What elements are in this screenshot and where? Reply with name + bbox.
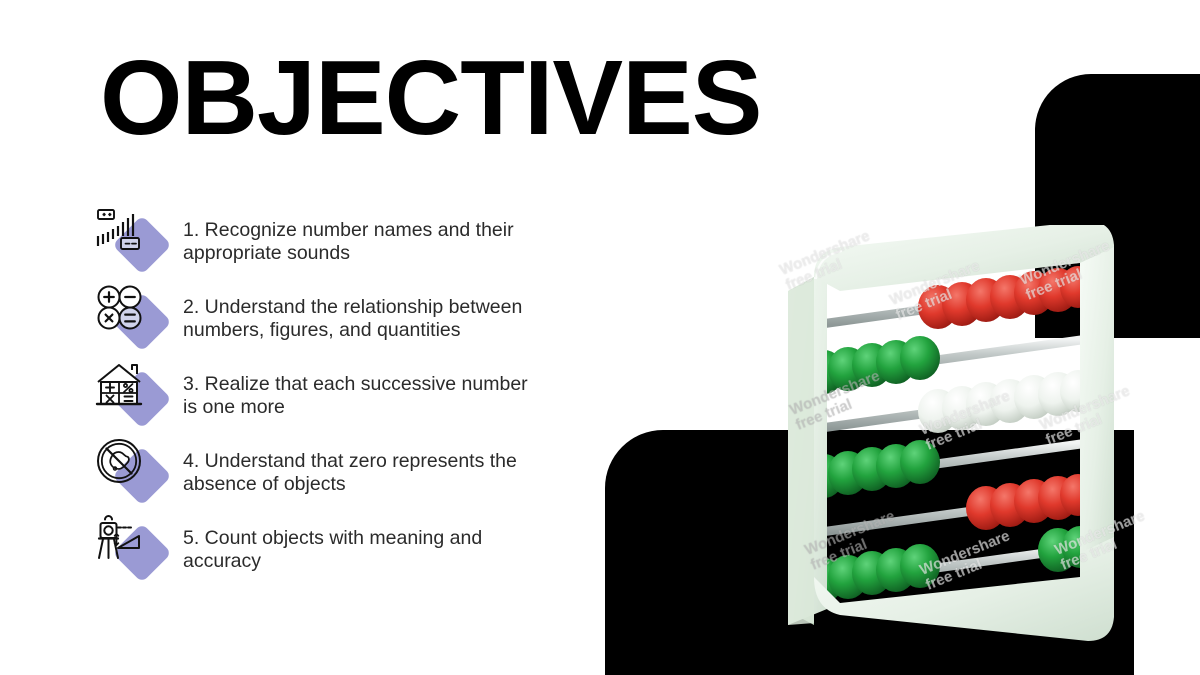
abacus-illustration [770,225,1150,655]
page-title: OBJECTIVES [100,43,762,154]
objective-text: 4. Understand that zero represents the a… [183,450,535,495]
objectives-list: 1. Recognize number names and their appr… [95,206,535,591]
list-item: 4. Understand that zero represents the a… [95,437,535,514]
objective-icon-5 [95,514,167,586]
objective-text: 1. Recognize number names and their appr… [183,219,535,264]
abacus-svg [770,225,1150,655]
objective-icon-3 [95,360,167,432]
list-item: 5. Count objects with meaning and accura… [95,514,535,591]
list-item: 2. Understand the relationship between n… [95,283,535,360]
surveying-theodolite-icon [95,514,151,570]
list-item: 1. Recognize number names and their appr… [95,206,535,283]
objective-text: 2. Understand the relationship between n… [183,296,535,341]
objective-text: 3. Realize that each successive number i… [183,373,535,418]
list-item: 3. Realize that each successive number i… [95,360,535,437]
objective-icon-2 [95,283,167,355]
no-objects-prohibited-icon [95,437,151,493]
bar-chart-plus-minus-icon [95,206,151,262]
objective-text: 5. Count objects with meaning and accura… [183,527,535,572]
objective-icon-1 [95,206,167,278]
objective-icon-4 [95,437,167,509]
math-operators-circles-icon [95,283,151,339]
slide-canvas: OBJECTIVES [0,0,1200,675]
math-house-icon [95,360,151,416]
